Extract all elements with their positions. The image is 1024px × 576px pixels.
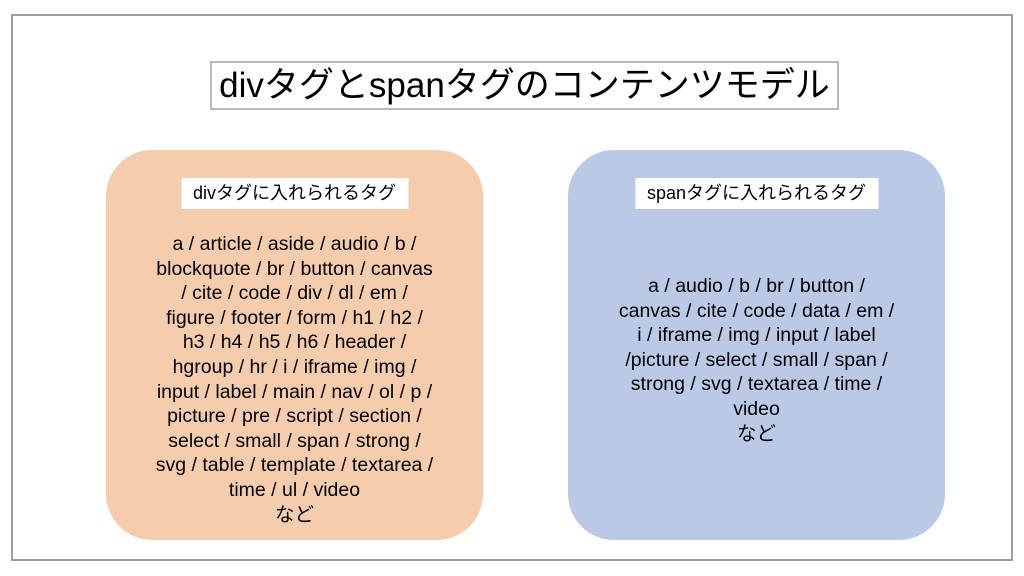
div-panel-label: divタグに入れられるタグ	[181, 178, 408, 209]
div-content-panel: divタグに入れられるタグ a / article / aside / audi…	[106, 150, 483, 540]
span-panel-label: spanタグに入れられるタグ	[635, 178, 878, 209]
span-content-panel: spanタグに入れられるタグ a / audio / b / br / butt…	[568, 150, 945, 540]
slide-frame: divタグとspanタグのコンテンツモデル divタグに入れられるタグ a / …	[11, 14, 1013, 561]
slide-title-box: divタグとspanタグのコンテンツモデル	[210, 61, 839, 110]
div-panel-tag-list: a / article / aside / audio / b / blockq…	[114, 232, 475, 527]
page-title: divタグとspanタグのコンテンツモデル	[219, 68, 830, 103]
span-panel-tag-list: a / audio / b / br / button / canvas / c…	[576, 274, 937, 446]
slide-canvas: divタグとspanタグのコンテンツモデル divタグに入れられるタグ a / …	[0, 0, 1024, 576]
